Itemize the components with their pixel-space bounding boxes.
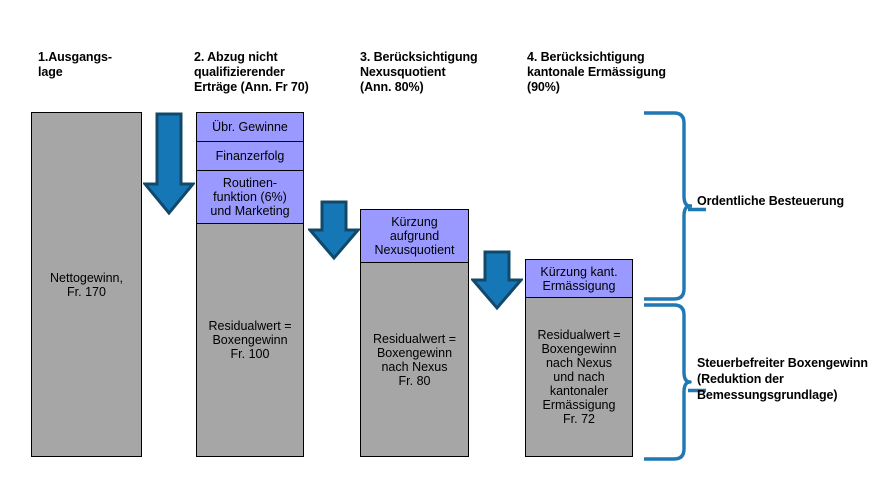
diagram-canvas: 1.Ausgangs- lage 2. Abzug nicht qualifiz… — [0, 0, 894, 478]
segment-finanzerfolg: Finanzerfolg — [196, 141, 304, 171]
segment-nettogewinn: Nettogewinn, Fr. 170 — [31, 112, 142, 457]
column-heading-2: 2. Abzug nicht qualifizierender Erträge … — [194, 50, 354, 95]
bar-column-3: Kürzung aufgrund Nexusquotient Residualw… — [360, 209, 469, 457]
column-heading-1: 1.Ausgangs- lage — [38, 50, 183, 80]
segment-routinefunktion-marketing: Routinen- funktion (6%) und Marketing — [196, 170, 304, 224]
arrow-step3-to-step4 — [471, 250, 523, 317]
column-heading-3: 3. Berücksichtigung Nexusquotient (Ann. … — [360, 50, 525, 95]
brace-ordentliche-besteuerung — [636, 110, 692, 307]
segment-residualwert-80: Residualwert = Boxengewinn nach Nexus Fr… — [360, 262, 469, 457]
brace-label-steuerbefreiter-boxengewinn: Steuerbefreiter Boxengewinn (Reduktion d… — [697, 355, 894, 403]
brace-label-ordentliche-besteuerung: Ordentliche Besteuerung — [697, 193, 892, 209]
segment-uebrige-gewinne: Übr. Gewinne — [196, 112, 304, 142]
segment-kuerzung-nexusquotient: Kürzung aufgrund Nexusquotient — [360, 209, 469, 263]
bar-column-1: Nettogewinn, Fr. 170 — [31, 112, 142, 457]
segment-residualwert-100: Residualwert = Boxengewinn Fr. 100 — [196, 223, 304, 457]
brace-steuerbefreiter-boxengewinn — [636, 302, 692, 467]
segment-kuerzung-kantonale-ermaessigung: Kürzung kant. Ermässigung — [525, 259, 633, 298]
bar-column-2: Übr. Gewinne Finanzerfolg Routinen- funk… — [196, 112, 304, 457]
segment-residualwert-72: Residualwert = Boxengewinn nach Nexus un… — [525, 297, 633, 457]
arrow-step1-to-step2 — [143, 112, 195, 222]
arrow-step2-to-step3 — [308, 200, 360, 267]
column-heading-4: 4. Berücksichtigung kantonale Ermässigun… — [527, 50, 712, 95]
bar-column-4: Kürzung kant. Ermässigung Residualwert =… — [525, 259, 633, 457]
